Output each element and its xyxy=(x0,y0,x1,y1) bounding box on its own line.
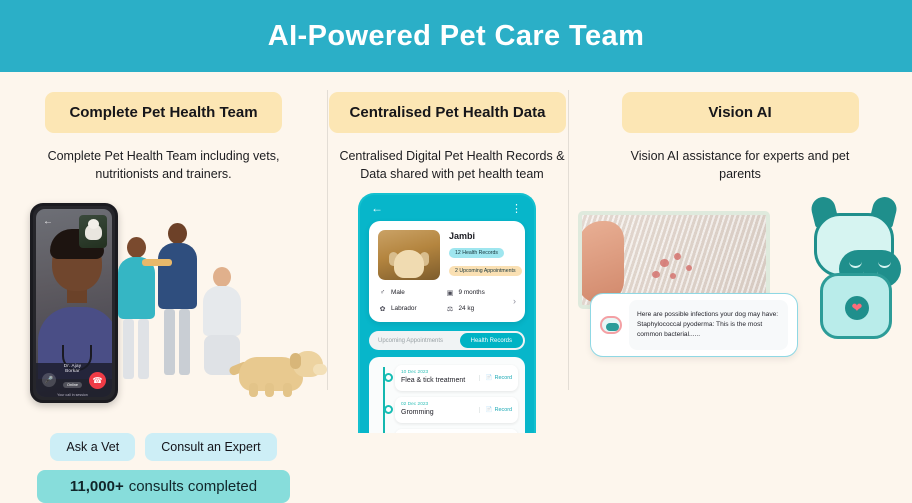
person-legs xyxy=(164,309,175,375)
ask-a-vet-label: Ask a Vet xyxy=(66,440,119,454)
page-title: AI-Powered Pet Care Team xyxy=(268,20,645,53)
pet-photo xyxy=(378,230,440,280)
consult-an-expert-button[interactable]: Consult an Expert xyxy=(145,433,276,461)
dog-snout xyxy=(313,364,327,375)
view-record-button[interactable]: 📄 Record xyxy=(479,407,512,413)
timeline-record-row[interactable]: 02 Dec 2023 Gromming 📄 Record xyxy=(395,397,518,423)
pet-attribute-breed: ✿ Labrador xyxy=(378,304,440,313)
microphone-mute-icon[interactable]: 🎤 xyxy=(42,373,56,387)
dog-illustration xyxy=(239,341,323,397)
chat-message-panel: Here are possible infections your dog ma… xyxy=(629,300,788,350)
app-top-bar: ← ⋮ xyxy=(360,195,534,221)
person-head xyxy=(213,267,231,287)
person-legs xyxy=(179,309,190,375)
person-head xyxy=(127,237,146,258)
person-body xyxy=(158,243,197,309)
person-legs xyxy=(138,319,149,379)
column-1-pill: Complete Pet Health Team xyxy=(45,92,282,133)
kebab-menu-icon[interactable]: ⋮ xyxy=(511,202,523,215)
view-record-label: Record xyxy=(495,375,512,381)
tab-health-records[interactable]: Health Records xyxy=(460,333,523,348)
robot-eye xyxy=(849,261,862,268)
timeline-record-text: 10 Dec 2023 Flea & tick treatment xyxy=(401,370,465,386)
person-legs xyxy=(123,319,134,379)
timeline-record-row[interactable]: 10 Dec 2023 Flea & tick treatment 📄 Reco… xyxy=(395,365,518,391)
column-1-pill-label: Complete Pet Health Team xyxy=(69,104,257,121)
pet-health-team-photo xyxy=(112,211,327,411)
column-3-pill-label: Vision AI xyxy=(708,104,771,121)
video-call-screen: ← 🎤 Dr. Ajay Borkar Online Your call in … xyxy=(36,209,112,397)
ai-robot-mascot: ❤ xyxy=(802,195,906,355)
pet-health-app-phone: ← ⋮ Jambi 12 Health Reco xyxy=(358,193,536,433)
back-arrow-icon[interactable]: ← xyxy=(371,201,383,215)
vision-ai-chat-bubble: Here are possible infections your dog ma… xyxy=(590,293,798,357)
chevron-right-icon[interactable]: › xyxy=(513,296,516,306)
pet-breed-value: Labrador xyxy=(391,305,417,312)
robot-eye xyxy=(878,261,891,268)
dog-leg xyxy=(283,383,292,397)
calendar-icon: ▣ xyxy=(446,288,455,297)
end-call-icon[interactable]: ☎ xyxy=(89,372,106,389)
record-date: 02 Dec 2023 xyxy=(401,402,434,408)
chat-message-text: Here are possible infections your dog ma… xyxy=(637,310,780,341)
pet-age-value: 9 months xyxy=(459,289,485,296)
pet-attributes: ♂ Male ▣ 9 months › ✿ Labrador xyxy=(378,288,516,313)
column-vision-ai: Vision AI Vision AI assistance for exper… xyxy=(568,72,912,503)
column-centralised-pet-health-data: Centralised Pet Health Data Centralised … xyxy=(327,72,568,503)
column-3-pill: Vision AI xyxy=(622,92,859,133)
health-records-badge[interactable]: 12 Health Records xyxy=(449,248,504,258)
pet-attribute-weight: ⚖ 24 kg xyxy=(446,304,508,313)
robot-body: ❤ xyxy=(820,273,892,339)
heart-icon: ❤ xyxy=(845,296,869,320)
weight-icon: ⚖ xyxy=(446,304,455,313)
ai-assistant-avatar xyxy=(600,316,622,334)
record-title: Flea & tick treatment xyxy=(401,377,465,386)
column-complete-pet-health-team: Complete Pet Health Team Complete Pet He… xyxy=(0,72,327,503)
column-3-caption: Vision AI assistance for experts and pet… xyxy=(615,147,865,183)
call-control-bar: 🎤 Dr. Ajay Borkar Online Your call in se… xyxy=(36,363,112,397)
column-1-illustration: ← 🎤 Dr. Ajay Borkar Online Your call in … xyxy=(0,195,327,425)
page-header: AI-Powered Pet Care Team xyxy=(0,0,912,72)
timeline-record-row[interactable]: 11 Nov 2023 Vaccination deatils 📄 Record xyxy=(395,429,518,433)
timeline-record-text: 02 Dec 2023 Gromming xyxy=(401,402,434,418)
column-2-illustration: ← ⋮ Jambi 12 Health Reco xyxy=(327,193,568,433)
column-3-illustration: ❤ Here are possible infections your dog … xyxy=(568,193,912,428)
pet-care-infographic: AI-Powered Pet Care Team Complete Pet He… xyxy=(0,0,912,503)
male-gender-icon: ♂ xyxy=(378,288,387,297)
call-subtext: Your call in session xyxy=(56,393,89,397)
ask-a-vet-button[interactable]: Ask a Vet xyxy=(50,433,135,461)
tab-upcoming-appointments[interactable]: Upcoming Appointments xyxy=(371,338,443,344)
person-head xyxy=(168,223,187,244)
human-finger xyxy=(578,221,624,303)
picture-in-picture-window[interactable] xyxy=(79,215,107,248)
dog-ear xyxy=(290,353,301,369)
paw-icon: ✿ xyxy=(378,304,387,313)
pet-card-top: Jambi 12 Health Records 2 Upcoming Appoi… xyxy=(378,230,516,280)
video-call-phone: ← 🎤 Dr. Ajay Borkar Online Your call in … xyxy=(30,203,118,403)
consults-count: 11,000+ xyxy=(70,478,124,495)
avatar-face xyxy=(606,323,619,331)
document-icon: 📄 xyxy=(486,375,493,381)
pet-gender-value: Male xyxy=(391,289,405,296)
column-2-caption: Centralised Digital Pet Health Records &… xyxy=(327,147,577,183)
column-1-actions: Ask a Vet Consult an Expert xyxy=(0,433,327,461)
feature-columns: Complete Pet Health Team Complete Pet He… xyxy=(0,72,912,503)
record-date: 10 Dec 2023 xyxy=(401,370,465,376)
document-icon: 📄 xyxy=(486,407,493,413)
consult-an-expert-label: Consult an Expert xyxy=(161,440,260,454)
person-body xyxy=(203,286,241,336)
person-body xyxy=(118,257,155,319)
upcoming-appointments-badge[interactable]: 2 Upcoming Appointments xyxy=(449,266,522,276)
column-2-pill: Centralised Pet Health Data xyxy=(329,92,566,133)
view-record-button[interactable]: 📄 Record xyxy=(479,375,512,381)
pet-weight-value: 24 kg xyxy=(459,305,475,312)
pet-name: Jambi xyxy=(449,231,522,241)
consults-label: consults completed xyxy=(129,478,257,495)
pet-food-tray xyxy=(142,259,172,266)
pet-photo-dog xyxy=(394,250,424,278)
app-tab-row: Upcoming Appointments Health Records xyxy=(369,331,525,350)
consults-stat-badge: 11,000+ consults completed xyxy=(37,470,290,503)
health-records-timeline: 10 Dec 2023 Flea & tick treatment 📄 Reco… xyxy=(369,357,525,433)
call-meta: Dr. Ajay Borkar Online Your call in sess… xyxy=(56,363,89,397)
pet-attribute-age: ▣ 9 months xyxy=(446,288,508,297)
timeline-dot xyxy=(384,373,393,382)
robot-head xyxy=(814,213,894,277)
call-participant-name: Dr. Ajay Borkar xyxy=(56,363,89,373)
back-arrow-icon[interactable]: ← xyxy=(43,216,53,227)
column-1-caption: Complete Pet Health Team including vets,… xyxy=(39,147,289,183)
pet-profile-card[interactable]: Jambi 12 Health Records 2 Upcoming Appoi… xyxy=(369,221,525,322)
pet-attribute-gender: ♂ Male xyxy=(378,288,440,297)
view-record-label: Record xyxy=(495,407,512,413)
dog-leg xyxy=(265,383,274,397)
team-member-2 xyxy=(156,223,198,387)
call-status-badge: Online xyxy=(63,382,82,388)
timeline-dot xyxy=(384,405,393,414)
record-title: Gromming xyxy=(401,409,434,418)
pet-info: Jambi 12 Health Records 2 Upcoming Appoi… xyxy=(449,230,522,280)
dog-leg xyxy=(249,383,258,397)
column-2-pill-label: Centralised Pet Health Data xyxy=(350,104,546,121)
